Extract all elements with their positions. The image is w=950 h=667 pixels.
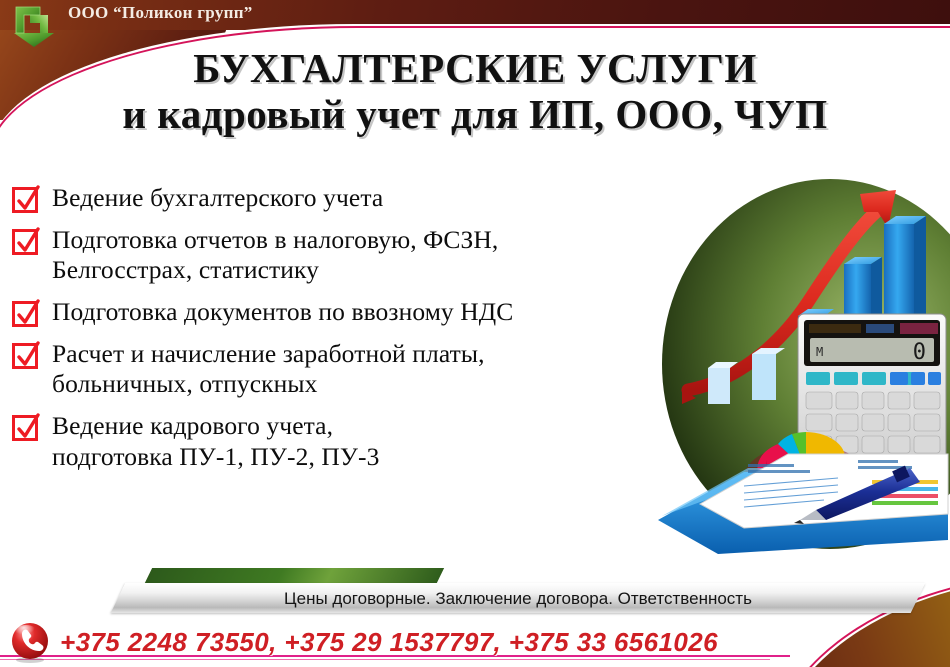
list-item-line: Ведение бухгалтерского учета [52,183,383,213]
advertisement-poster: ООО “Поликон групп” БУХГАЛТЕРСКИЕ УСЛУГИ… [0,0,950,667]
calculator-memory-indicator: M [816,345,823,359]
list-item-line: подготовка ПУ-1, ПУ-2, ПУ-3 [52,442,380,472]
list-item-text: Расчет и начисление заработной платы, бо… [52,339,485,399]
calculator-display-value: 0 [913,340,926,365]
contact-phones: +375 2248 73550, +375 29 1537797, +375 3… [8,620,718,664]
list-item: Ведение бухгалтерского учета [12,183,672,213]
list-item: Подготовка отчетов в налоговую, ФСЗН, Бе… [12,225,672,285]
list-item-text: Ведение кадрового учета, подготовка ПУ-1… [52,411,380,471]
page-title: БУХГАЛТЕРСКИЕ УСЛУГИ и кадровый учет для… [0,48,950,136]
list-item: Ведение кадрового учета, подготовка ПУ-1… [12,411,672,471]
accounting-illustration: M 0 [648,168,950,580]
list-item: Подготовка документов по ввозному НДС [12,297,672,327]
title-line-1: БУХГАЛТЕРСКИЕ УСЛУГИ [0,48,950,90]
red-checkmark-icon [12,301,38,327]
list-item-line: Подготовка документов по ввозному НДС [52,297,513,327]
services-checklist: Ведение бухгалтерского учета Подготовка … [12,183,672,484]
red-checkmark-icon [12,187,38,213]
polikon-logo-icon [10,3,58,49]
phone-numbers[interactable]: +375 2248 73550, +375 29 1537797, +375 3… [60,627,718,658]
list-item-text: Подготовка документов по ввозному НДС [52,297,513,327]
company-name: ООО “Поликон групп” [68,3,253,23]
title-line-2: и кадровый учет для ИП, ООО, ЧУП [0,94,950,136]
list-item: Расчет и начисление заработной платы, бо… [12,339,672,399]
red-checkmark-icon [12,343,38,369]
list-item-text: Ведение бухгалтерского учета [52,183,383,213]
list-item-line: Белгосстрах, статистику [52,255,498,285]
banner-text: Цены договорные. Заключение договора. От… [118,586,918,612]
list-item-line: Ведение кадрового учета, [52,411,380,441]
list-item-line: Расчет и начисление заработной платы, [52,339,485,369]
red-checkmark-icon [12,229,38,255]
list-item-line: Подготовка отчетов в налоговую, ФСЗН, [52,225,498,255]
list-item-text: Подготовка отчетов в налоговую, ФСЗН, Бе… [52,225,498,285]
list-item-line: больничных, отпускных [52,369,485,399]
red-checkmark-icon [12,415,38,441]
phone-handset-icon [8,620,52,664]
